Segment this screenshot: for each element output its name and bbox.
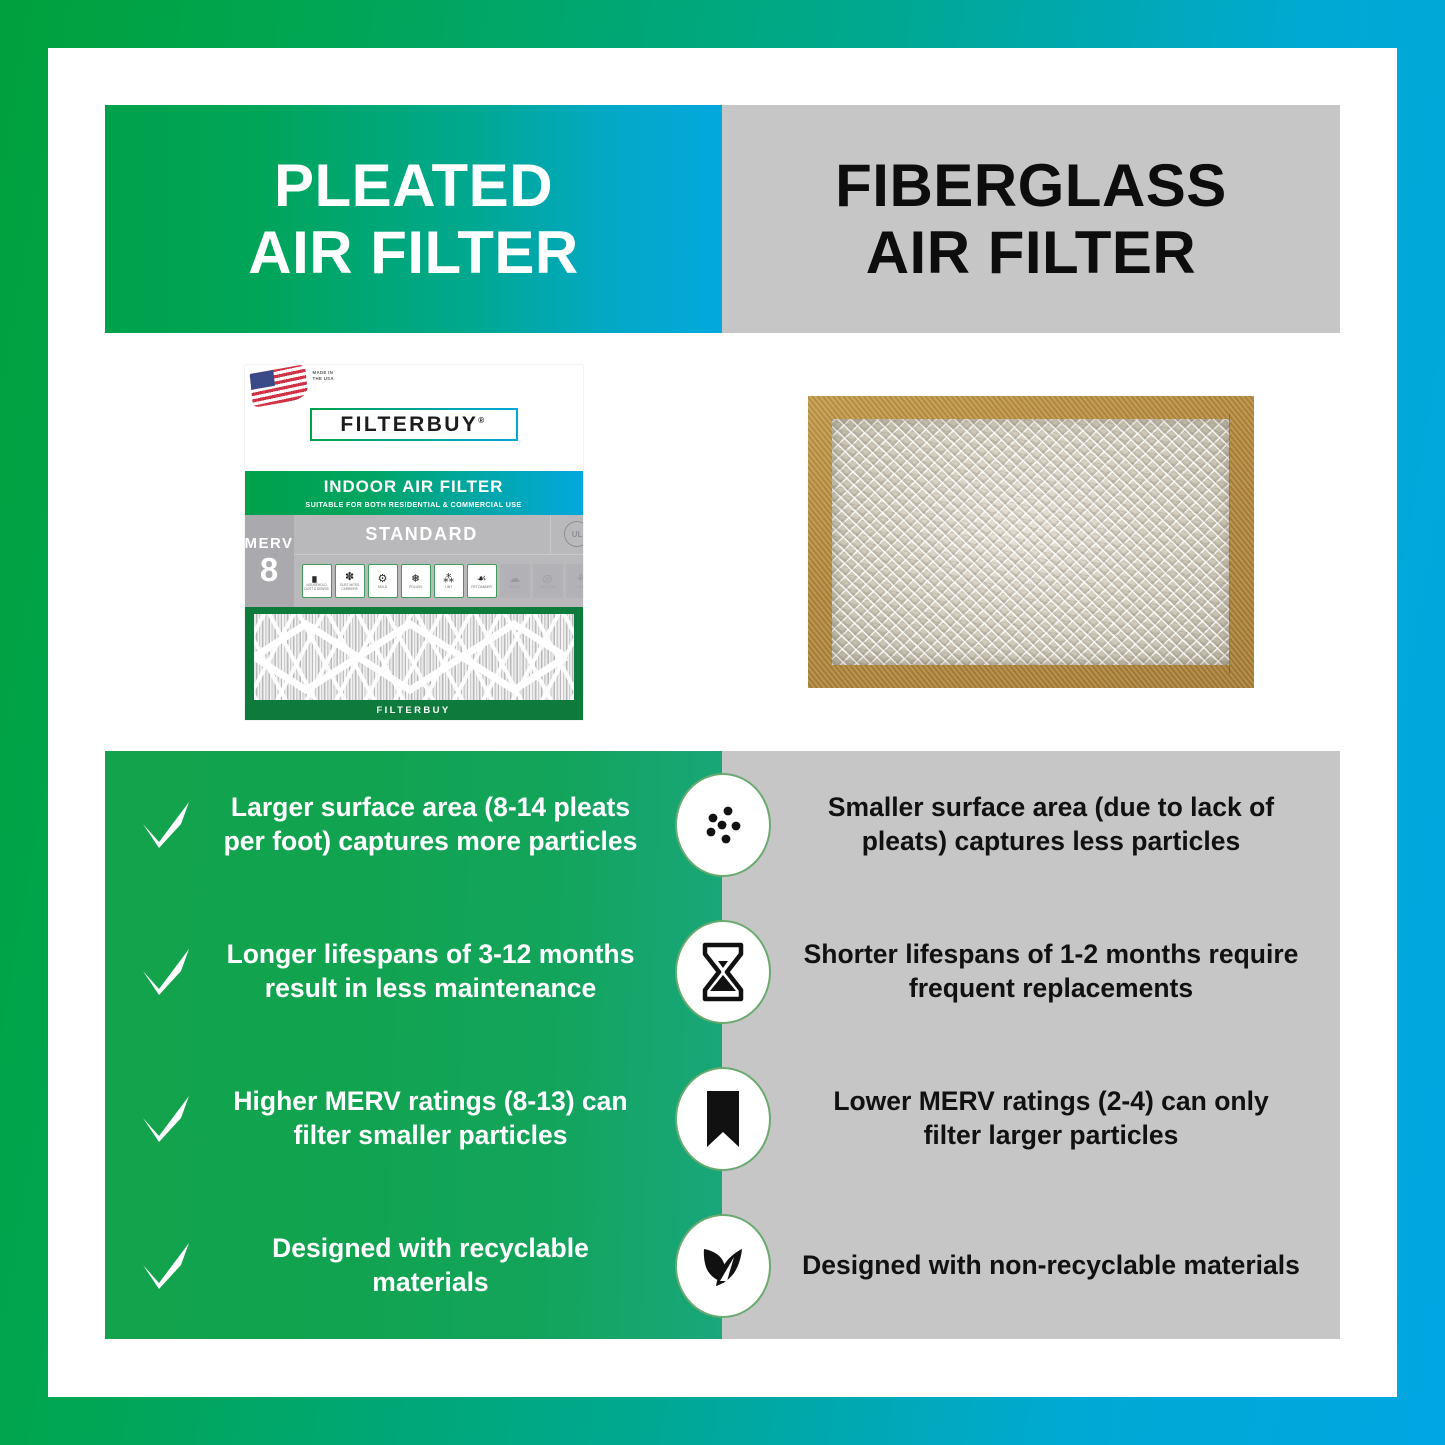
capability-caption: VIRUS [576,586,583,590]
hourglass-icon [675,920,771,1024]
capability-glyph: ◎ [543,572,553,585]
capability-glyph: ☁ [509,572,520,585]
capability-caption: POLLEN [409,586,422,590]
header-pleated-title: PLEATED AIR FILTER [248,152,579,286]
header-band: PLEATED AIR FILTER FIBERGLASS AIR FILTER [105,105,1340,333]
comparison-left-text: Designed with recyclable materials [213,1232,648,1298]
capability-icon-3: ❅POLLEN [401,564,431,598]
comparison-row-left: Higher MERV ratings (8-13) can filter sm… [105,1045,722,1192]
merv-label: MERV [245,535,294,552]
capability-caption: PET DANDER [471,586,492,590]
pleated-media-texture [254,614,574,700]
ul-mark-icon: UL [564,521,582,547]
made-in-usa-label: MADE IN THE USA [313,370,334,383]
capability-glyph: ⚙ [378,572,388,585]
capability-caption: LINT [445,586,452,590]
comparison-row-left: Longer lifespans of 3-12 months result i… [105,898,722,1045]
capability-glyph: ⚘ [576,572,583,585]
capability-glyph: ✽ [345,570,354,583]
capability-icon-8: ⚘VIRUS [566,564,583,598]
capability-icon-0: ▖HOUSEHOLD DUST & DEBRIS [302,564,332,598]
checkmark-icon [137,1090,195,1148]
package-top-section: MADE IN THE USA FILTERBUY® [245,365,583,471]
pleated-product-cell: MADE IN THE USA FILTERBUY® INDOOR AIR FI… [105,333,722,751]
white-canvas: PLEATED AIR FILTER FIBERGLASS AIR FILTER… [48,48,1397,1397]
leaf-icon [675,1214,771,1318]
comparison-left-text: Higher MERV ratings (8-13) can filter sm… [213,1085,648,1151]
comparison-row-left: Designed with recyclable materials [105,1192,722,1339]
comparison-rows: Larger surface area (8-14 pleats per foo… [105,751,1340,1339]
comparison-row-right: Smaller surface area (due to lack of ple… [722,751,1340,898]
package-spec-right: STANDARD UL ▖HOUSEHOLD DUST & DEBRIS✽DUS… [294,515,583,607]
package-spec-section: MERV 8 STANDARD UL ▖HOUSEHOLD DUST & DEB… [245,515,583,607]
brand-box: FILTERBUY® [310,408,518,441]
capability-caption: MOLD [378,586,387,590]
fiberglass-filter-image [808,396,1254,688]
particles-icon [675,773,771,877]
capability-icon-6: ☁SMOKE [500,564,530,598]
fiberglass-media-texture [832,419,1230,665]
comparison-row-right: Shorter lifespans of 1-2 months require … [722,898,1340,1045]
capability-icon-7: ◎BACTERIA [533,564,563,598]
package-grade-row: STANDARD UL [294,515,583,555]
checkmark-icon [137,943,195,1001]
comparison-right-text: Smaller surface area (due to lack of ple… [802,791,1300,857]
comparison-right-text: Shorter lifespans of 1-2 months require … [802,938,1300,1004]
ul-certification: UL [550,515,583,554]
header-fiberglass: FIBERGLASS AIR FILTER [722,105,1340,333]
capability-caption: DUST MITES CARRIERS [336,584,364,591]
capability-caption: SMOKE [509,586,521,590]
package-capability-icons: ▖HOUSEHOLD DUST & DEBRIS✽DUST MITES CARR… [294,555,583,607]
filterbuy-package-image: MADE IN THE USA FILTERBUY® INDOOR AIR FI… [245,365,583,720]
capability-caption: HOUSEHOLD DUST & DEBRIS [303,584,331,591]
merv-block: MERV 8 [245,515,294,607]
capability-icon-2: ⚙MOLD [368,564,398,598]
capability-icon-5: ☙PET DANDER [467,564,497,598]
capability-glyph: ⁂ [443,572,454,585]
comparison-right-text: Designed with non-recyclable materials [802,1249,1300,1282]
comparison-left-text: Larger surface area (8-14 pleats per foo… [213,791,648,857]
comparison-row: Designed with recyclable materialsDesign… [105,1192,1340,1339]
bookmark-icon [675,1067,771,1171]
infographic-root: PLEATED AIR FILTER FIBERGLASS AIR FILTER… [0,0,1445,1445]
package-footer-brand: FILTERBUY [254,705,574,716]
checkmark-icon [137,1237,195,1295]
checkmark-icon [137,796,195,854]
capability-icon-1: ✽DUST MITES CARRIERS [335,564,365,598]
comparison-right-text: Lower MERV ratings (2-4) can only filter… [802,1085,1300,1151]
comparison-row: Larger surface area (8-14 pleats per foo… [105,751,1340,898]
comparison-left-text: Longer lifespans of 3-12 months result i… [213,938,648,1004]
package-band-main: INDOOR AIR FILTER [324,477,504,497]
fiberglass-product-cell [722,333,1340,751]
usa-flag-icon [249,365,308,408]
comparison-row-right: Designed with non-recyclable materials [722,1192,1340,1339]
capability-caption: BACTERIA [540,586,556,590]
package-filter-media: FILTERBUY [245,607,583,720]
brand-name: FILTERBUY® [340,413,486,437]
package-indoor-band: INDOOR AIR FILTER SUITABLE FOR BOTH RESI… [245,471,583,515]
capability-glyph: ❅ [411,572,420,585]
capability-icon-4: ⁂LINT [434,564,464,598]
header-pleated: PLEATED AIR FILTER [105,105,722,333]
merv-value: 8 [260,553,278,586]
header-fiberglass-title: FIBERGLASS AIR FILTER [835,152,1227,286]
package-band-sub: SUITABLE FOR BOTH RESIDENTIAL & COMMERCI… [305,500,521,509]
capability-glyph: ▖ [312,570,320,583]
comparison-row: Higher MERV ratings (8-13) can filter sm… [105,1045,1340,1192]
comparison-row-left: Larger surface area (8-14 pleats per foo… [105,751,722,898]
package-grade-label: STANDARD [294,524,550,545]
comparison-row: Longer lifespans of 3-12 months result i… [105,898,1340,1045]
comparison-row-right: Lower MERV ratings (2-4) can only filter… [722,1045,1340,1192]
comparison-panel: Larger surface area (8-14 pleats per foo… [105,751,1340,1339]
product-images-row: MADE IN THE USA FILTERBUY® INDOOR AIR FI… [105,333,1340,751]
capability-glyph: ☙ [477,572,487,585]
